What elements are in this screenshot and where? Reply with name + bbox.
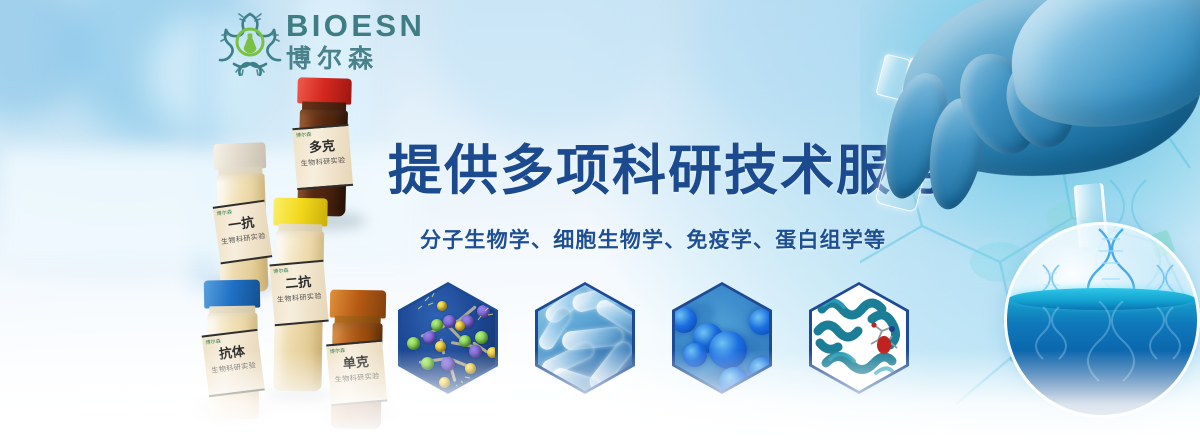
page-title: 提供多项科研技术服务 [388,126,948,205]
bacteria-rod [551,366,602,391]
flask-bulb [1004,222,1200,418]
cell-sphere [675,307,697,333]
vial-label-name: 二抗 [271,275,326,293]
round-bottom-flask [992,186,1200,440]
vial-cap [330,290,386,319]
background-bokeh [0,0,90,120]
vial-cap [204,280,260,309]
cell-sphere [683,343,707,367]
brand-logo[interactable]: BIOESN 博尔森 [216,6,416,80]
vial-label: 博尔森 二抗 生物科研实验 [269,260,328,326]
cell-sphere [709,331,747,369]
cell-sphere [749,309,769,335]
protein-ribbon-svg [812,285,906,391]
vial-label: 博尔森 抗体 生物科研实验 [202,329,265,397]
monoclonal-antibody-vial: 博尔森 单克 生物科研实验 [326,289,390,430]
cell-sphere [749,357,769,383]
vial-label: 博尔森 一抗 生物科研实验 [213,200,273,265]
vial-label-sub: 生物科研实验 [295,155,352,169]
background-bokeh [690,0,860,130]
brand-name-cn: 博尔森 [286,44,425,74]
bioesn-hero-banner: BIOESN 博尔森 提供多项科研技术服务 分子生物学、细胞生物学、免疫学、蛋白… [0,0,1200,440]
vial-label-brand: 博尔森 [330,344,383,356]
vial-label-sub: 生物科研实验 [329,371,386,386]
vial-cap [273,198,327,227]
cells-hexagon[interactable] [672,282,772,394]
dna-reflection [1007,301,1200,418]
vial-label: 博尔森 单克 生物科研实验 [326,340,387,407]
secondary-antibody-vial: 博尔森 二抗 生物科研实验 [268,197,331,398]
vial-label-name: 多克 [294,139,351,156]
vial-label-name: 单克 [327,355,384,373]
vial-label-sub: 生物科研实验 [272,291,327,306]
antibody-vial: 博尔森 抗体 生物科研实验 [202,279,266,420]
brand-name-en: BIOESN [286,10,425,42]
hexagon-inner [401,285,495,391]
vial-label-brand: 博尔森 [273,264,324,275]
primary-antibody-vial: 博尔森 一抗 生物科研实验 [211,142,274,294]
hexagon-inner [812,285,906,391]
vial-label: 博尔森 多克 生物科研实验 [292,124,353,190]
molecule-sparkles [401,285,495,391]
flask-liquid [1007,297,1197,415]
molecular-biology-hexagon[interactable] [398,282,498,394]
bacteria-hexagon[interactable] [535,282,635,394]
page-subtitle: 分子生物学、细胞生物学、免疫学、蛋白组学等 [420,224,886,254]
background-streak [0,150,420,260]
background-bokeh [430,0,660,140]
vial-label-brand: 博尔森 [296,128,349,139]
bioesn-emblem-icon [216,8,284,76]
brand-logo-text: BIOESN 博尔森 [286,10,425,74]
cell-sphere [719,367,749,391]
hexagon-inner [675,285,769,391]
hexagon-inner [538,285,632,391]
